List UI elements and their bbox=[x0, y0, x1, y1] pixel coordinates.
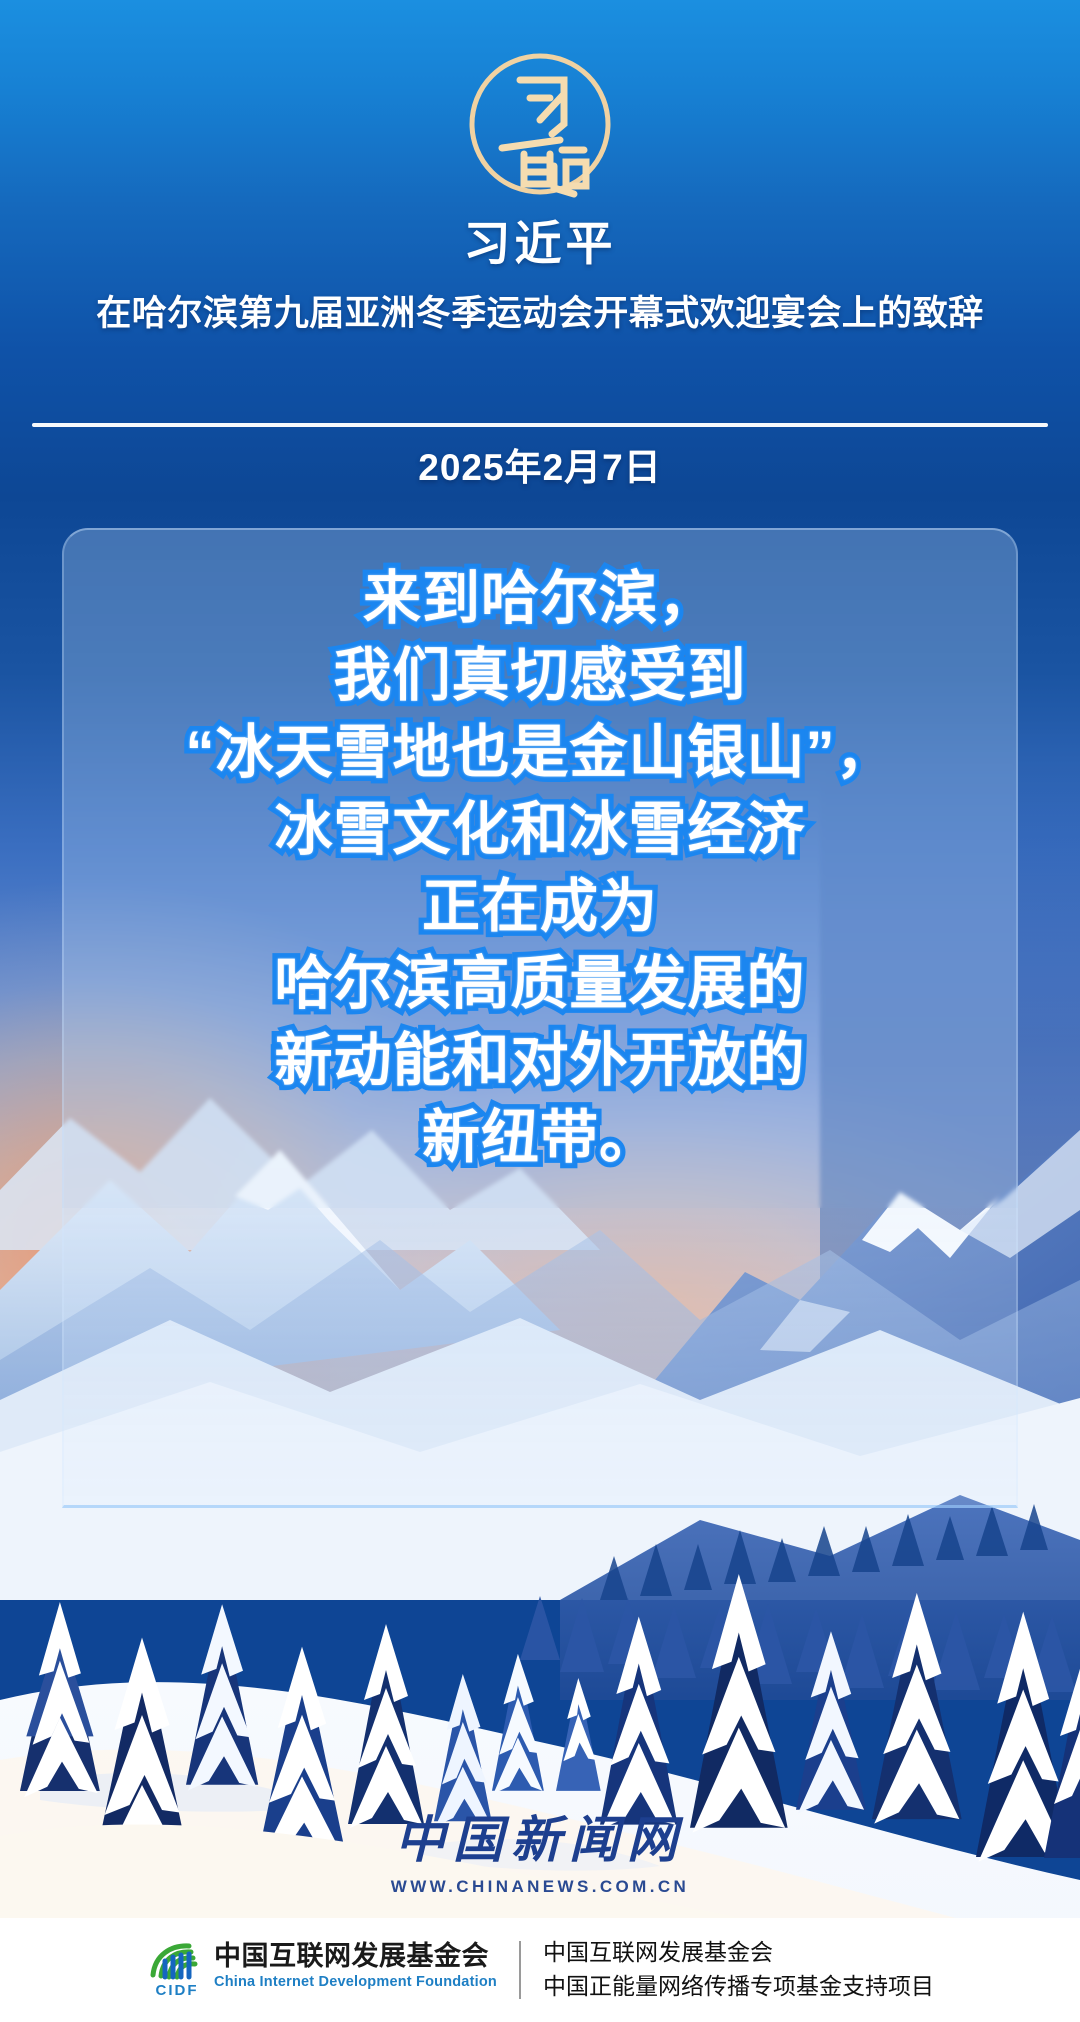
quote-line: 新纽带。 bbox=[62, 1099, 1018, 1176]
support-text: 中国互联网发展基金会 中国正能量网络传播专项基金支持项目 bbox=[543, 1936, 934, 2003]
cidf-mark-wrap: CIDF bbox=[146, 1941, 208, 1999]
cidf-abbreviation: CIDF bbox=[156, 1982, 199, 1999]
quote-line: 我们真切感受到 bbox=[62, 637, 1018, 714]
speaker-name: 习近平 bbox=[0, 218, 1080, 271]
quote-line: “冰天雪地也是金山银山”， bbox=[62, 714, 1018, 791]
header-block: 习近平 在哈尔滨第九届亚洲冬季运动会开幕式欢迎宴会上的致辞 bbox=[0, 218, 1080, 336]
support-line-2: 中国正能量网络传播专项基金支持项目 bbox=[543, 1970, 934, 2004]
support-line-1: 中国互联网发展基金会 bbox=[543, 1936, 934, 1970]
cidf-logo: CIDF 中国互联网发展基金会 China Internet Developme… bbox=[146, 1941, 497, 1999]
cidf-name-en: China Internet Development Foundation bbox=[214, 1974, 497, 1990]
publisher-logo: 中国新闻网 WWW.CHINANEWS.COM.CN bbox=[0, 1800, 1080, 1897]
speech-date: 2025年2月7日 bbox=[0, 437, 1080, 491]
xi-yan-dao-seal-icon bbox=[454, 38, 626, 210]
quote-line: 冰雪文化和冰雪经济 bbox=[62, 791, 1018, 868]
footer-vertical-divider bbox=[519, 1941, 521, 1999]
publisher-name: 中国新闻网 bbox=[0, 1800, 1080, 1872]
footer-bar: CIDF 中国互联网发展基金会 China Internet Developme… bbox=[0, 1918, 1080, 2022]
footer-content: CIDF 中国互联网发展基金会 China Internet Developme… bbox=[146, 1936, 934, 2003]
header-divider bbox=[32, 423, 1048, 427]
quote-line: 正在成为 bbox=[62, 868, 1018, 945]
quote-text-block: 来到哈尔滨， 我们真切感受到 “冰天雪地也是金山银山”， 冰雪文化和冰雪经济 正… bbox=[62, 560, 1018, 1176]
poster-root: 习近平 在哈尔滨第九届亚洲冬季运动会开幕式欢迎宴会上的致辞 2025年2月7日 … bbox=[0, 0, 1080, 2022]
cidf-globe-icon bbox=[149, 1941, 205, 1981]
quote-line: 新动能和对外开放的 bbox=[62, 1022, 1018, 1099]
cidf-name-cn: 中国互联网发展基金会 bbox=[214, 1941, 497, 1971]
publisher-url: WWW.CHINANEWS.COM.CN bbox=[0, 1877, 1080, 1897]
quote-card-panel-lower bbox=[62, 1208, 1018, 1508]
cidf-names: 中国互联网发展基金会 China Internet Development Fo… bbox=[214, 1941, 497, 1990]
quote-line: 来到哈尔滨， bbox=[62, 560, 1018, 637]
quote-line: 哈尔滨高质量发展的 bbox=[62, 945, 1018, 1022]
speech-subtitle: 在哈尔滨第九届亚洲冬季运动会开幕式欢迎宴会上的致辞 bbox=[0, 285, 1080, 336]
